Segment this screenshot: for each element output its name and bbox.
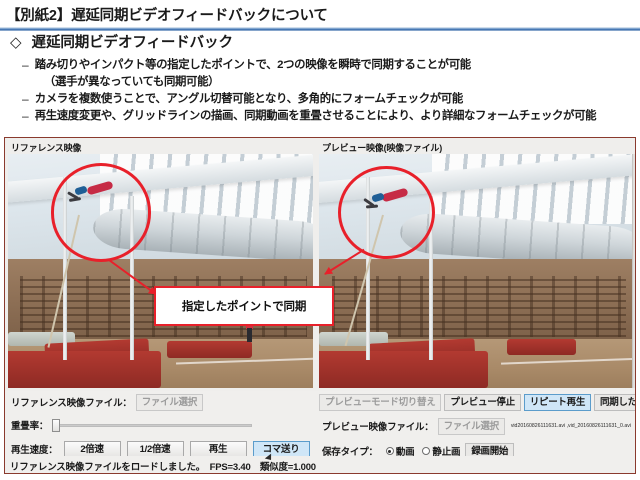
control-panel: リファレンス映像ファイル： ファイル選択 重畳率： 再生速度： 2倍速 1/2倍… — [5, 391, 636, 474]
preview-file-value: vid20160826111631.avi ,vid_2016082611163… — [511, 423, 631, 429]
radio-unselected-icon[interactable] — [422, 447, 430, 455]
frame-advance-button[interactable]: コマ送り — [253, 441, 310, 458]
video-panes: リファレンス映像 — [5, 138, 636, 391]
bullet-block: ◇ 遅延同期ビデオフィードバック – 踏み切りやインパクト等の指定したポイントで… — [0, 34, 640, 125]
preview-file-select-button[interactable]: ファイル選択 — [438, 418, 505, 435]
reference-video-canvas[interactable] — [8, 154, 313, 388]
bullet-text-2: （選手が異なっていても同期可能） — [0, 74, 640, 90]
reference-pane-label: リファレンス映像 — [11, 141, 81, 154]
bullet-text-1: 踏み切りやインパクト等の指定したポイントで、2つの映像を瞬時で同期することが可能 — [35, 57, 471, 73]
bullet-item-1: – 踏み切りやインパクト等の指定したポイントで、2つの映像を瞬時で同期することが… — [0, 57, 640, 73]
radio-selected-icon[interactable] — [386, 447, 394, 455]
reference-file-label: リファレンス映像ファイル： — [11, 395, 132, 409]
preview-pane-label: プレビュー映像(映像ファイル) — [322, 141, 442, 154]
reference-file-row: リファレンス映像ファイル： ファイル選択 — [5, 392, 316, 412]
status-bar: リファレンス映像ファイルをロードしました。 FPS=3.40 類似度=1.000 — [5, 456, 636, 474]
preview-mode-row: プレビューモード切り替え プレビュー停止 リピート再生 同期したら一時停止 — [316, 392, 636, 412]
bullet-item-3: – カメラを複数使うことで、アングル切替可能となり、多角的にフォームチェックが可… — [0, 91, 640, 107]
bullet-heading: 遅延同期ビデオフィードバック — [32, 34, 233, 52]
title-divider — [0, 27, 640, 31]
speed-half-button[interactable]: 1/2倍速 — [127, 441, 184, 458]
page-title: 【別紙2】遅延同期ビデオフィードバックについて — [6, 4, 328, 25]
dash-icon: – — [22, 91, 29, 107]
preview-scrollbar[interactable] — [632, 154, 636, 388]
pause-on-sync-button[interactable]: 同期したら一時停止 — [594, 394, 636, 411]
preview-video-pane: プレビュー映像(映像ファイル) — [316, 138, 636, 391]
overlay-ratio-row: 重畳率： — [5, 415, 316, 435]
bullet-text-3: カメラを複数使うことで、アングル切替可能となり、多角的にフォームチェックが可能 — [35, 91, 463, 107]
repeat-play-button[interactable]: リピート再生 — [524, 394, 591, 411]
overlay-ratio-slider[interactable] — [52, 419, 252, 431]
sync-point-callout-text: 指定したポイントで同期 — [182, 298, 306, 314]
bullet-item-4: – 再生速度変更や、グリッドラインの描画、同期動画を重畳させることにより、より詳… — [0, 108, 640, 124]
slide-page: 【別紙2】遅延同期ビデオフィードバックについて ◇ 遅延同期ビデオフィードバック… — [0, 0, 640, 480]
preview-video-canvas[interactable] — [319, 154, 632, 388]
overlay-ratio-label: 重畳率： — [11, 418, 48, 432]
gym-scene-left — [8, 154, 313, 388]
preview-stop-button[interactable]: プレビュー停止 — [444, 394, 520, 411]
playback-speed-label: 再生速度： — [11, 442, 58, 456]
reference-file-select-button[interactable]: ファイル選択 — [136, 394, 203, 411]
dash-icon: – — [22, 108, 29, 124]
highlight-circle-right — [338, 166, 435, 260]
preview-file-label: プレビュー映像ファイル： — [322, 419, 434, 433]
speed-2x-button[interactable]: 2倍速 — [64, 441, 121, 458]
dash-icon: – — [22, 57, 29, 73]
diamond-icon: ◇ — [10, 34, 22, 52]
video-app-window: リファレンス映像 — [4, 137, 636, 474]
slider-track — [52, 424, 252, 427]
preview-file-row: プレビュー映像ファイル： ファイル選択 vid20160826111631.av… — [316, 416, 636, 436]
bullet-level1: ◇ 遅延同期ビデオフィードバック — [0, 34, 640, 52]
play-button[interactable]: 再生 — [190, 441, 247, 458]
sync-point-callout: 指定したポイントで同期 — [154, 286, 334, 326]
slider-thumb[interactable] — [52, 419, 60, 432]
bullet-text-4: 再生速度変更や、グリッドラインの描画、同期動画を重畳させることにより、より詳細な… — [35, 108, 596, 124]
highlight-circle-left — [51, 163, 152, 261]
reference-video-pane: リファレンス映像 — [5, 138, 316, 391]
preview-mode-toggle-button[interactable]: プレビューモード切り替え — [319, 394, 441, 411]
